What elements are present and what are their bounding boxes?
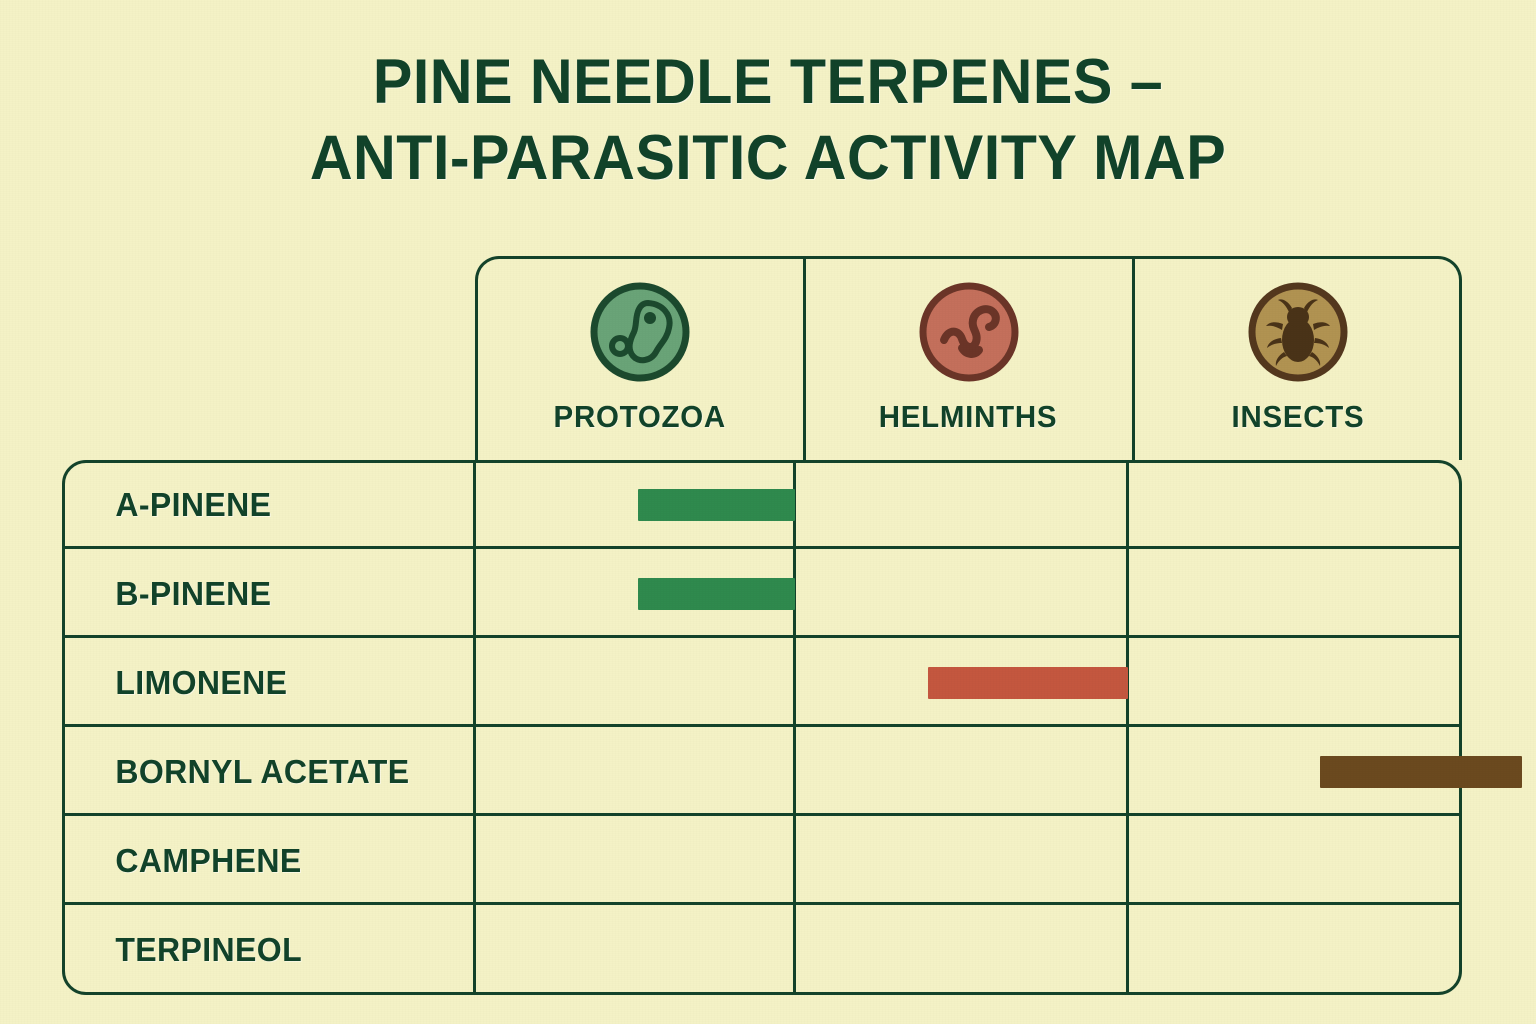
- cell-alpha-pinene-insects[interactable]: [1128, 460, 1462, 549]
- table-row[interactable]: β-PINENE: [62, 549, 1462, 638]
- cell-alpha-pinene-helminths[interactable]: [795, 460, 1128, 549]
- activity-bar-protozoa: [638, 489, 795, 521]
- row-cells: [475, 816, 1462, 905]
- row-label-alpha-pinene: α-PINENE: [62, 486, 463, 524]
- column-header-helminths-label: HELMINTHS: [879, 399, 1058, 435]
- column-header-insects[interactable]: INSECTS: [1133, 256, 1462, 460]
- worm-icon: [919, 282, 1019, 382]
- cell-alpha-pinene-protozoa[interactable]: [475, 460, 795, 549]
- cell-camphene-helminths[interactable]: [795, 816, 1128, 905]
- cell-beta-pinene-helminths[interactable]: [795, 549, 1128, 638]
- cell-bornyl-acetate-insects[interactable]: [1128, 727, 1462, 816]
- cell-terpineol-insects[interactable]: [1128, 905, 1462, 994]
- cell-limonene-helminths[interactable]: [795, 638, 1128, 727]
- activity-bar-protozoa: [638, 578, 795, 610]
- row-cells: [475, 905, 1462, 994]
- cell-bornyl-acetate-helminths[interactable]: [795, 727, 1128, 816]
- row-label-terpineol: TERPINEOL: [62, 931, 463, 969]
- row-cells: [475, 549, 1462, 638]
- cell-camphene-protozoa[interactable]: [475, 816, 795, 905]
- table-row[interactable]: α-PINENE: [62, 460, 1462, 549]
- cell-beta-pinene-protozoa[interactable]: [475, 549, 795, 638]
- column-header-protozoa[interactable]: PROTOZOA: [475, 256, 804, 460]
- row-cells: [475, 638, 1462, 727]
- activity-bar-helminths: [928, 667, 1128, 699]
- cell-terpineol-helminths[interactable]: [795, 905, 1128, 994]
- column-header-protozoa-label: PROTOZOA: [553, 399, 725, 435]
- page-title-line-1: PINE NEEDLE TERPENES –: [46, 44, 1490, 120]
- activity-bar-insects: [1320, 756, 1522, 788]
- column-header-insects-label: INSECTS: [1231, 399, 1364, 435]
- row-label-beta-pinene: β-PINENE: [62, 575, 463, 613]
- row-cells: [475, 727, 1462, 816]
- matrix-header-row: PROTOZOA HELMINTHS: [475, 256, 1462, 460]
- cell-beta-pinene-insects[interactable]: [1128, 549, 1462, 638]
- table-row[interactable]: LIMONENE: [62, 638, 1462, 727]
- row-label-camphene: CAMPHENE: [62, 842, 463, 880]
- row-cells: [475, 460, 1462, 549]
- row-label-bornyl-acetate: BORNYL ACETATE: [62, 753, 463, 791]
- activity-matrix: PROTOZOA HELMINTHS: [62, 256, 1462, 995]
- bug-icon: [1248, 282, 1348, 382]
- table-row[interactable]: BORNYL ACETATE: [62, 727, 1462, 816]
- column-header-helminths[interactable]: HELMINTHS: [804, 256, 1133, 460]
- cell-camphene-insects[interactable]: [1128, 816, 1462, 905]
- cell-limonene-protozoa[interactable]: [475, 638, 795, 727]
- table-row[interactable]: CAMPHENE: [62, 816, 1462, 905]
- amoeba-icon: [590, 282, 690, 382]
- page-title-line-2: ANTI-PARASITIC ACTIVITY MAP: [46, 120, 1490, 196]
- page-title: PINE NEEDLE TERPENES – ANTI-PARASITIC AC…: [46, 44, 1490, 196]
- cell-limonene-insects[interactable]: [1128, 638, 1462, 727]
- matrix-rows: α-PINENE β-PINENE LIMONENE: [62, 460, 1462, 995]
- table-row[interactable]: TERPINEOL: [62, 905, 1462, 994]
- cell-terpineol-protozoa[interactable]: [475, 905, 795, 994]
- cell-bornyl-acetate-protozoa[interactable]: [475, 727, 795, 816]
- row-label-limonene: LIMONENE: [62, 664, 463, 702]
